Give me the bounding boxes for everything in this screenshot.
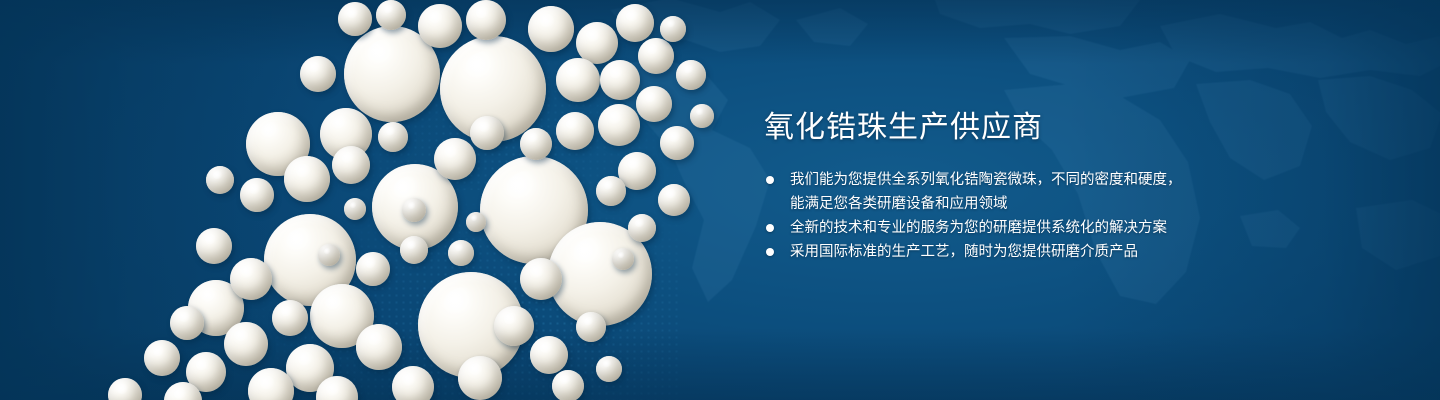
list-item: 我们能为您提供全系列氧化锆陶瓷微珠，不同的密度和硬度， 能满足您各类研磨设备和应… bbox=[764, 168, 1324, 216]
list-item-line1: 我们能为您提供全系列氧化锆陶瓷微珠，不同的密度和硬度， bbox=[790, 172, 1182, 188]
banner-copy: 氧化锆珠生产供应商 我们能为您提供全系列氧化锆陶瓷微珠，不同的密度和硬度， 能满… bbox=[764, 108, 1324, 264]
zirconia-beads-image bbox=[0, 0, 760, 400]
list-item: 全新的技术和专业的服务为您的研磨提供系统化的解决方案 bbox=[764, 216, 1324, 240]
bullet-dot-icon bbox=[766, 224, 774, 232]
page-title: 氧化锆珠生产供应商 bbox=[764, 108, 1324, 148]
list-item-line1: 采用国际标准的生产工艺，随时为您提供研磨介质产品 bbox=[790, 244, 1138, 260]
bullet-dot-icon bbox=[766, 248, 774, 256]
hero-banner: 氧化锆珠生产供应商 我们能为您提供全系列氧化锆陶瓷微珠，不同的密度和硬度， 能满… bbox=[0, 0, 1440, 400]
list-item-line1: 全新的技术和专业的服务为您的研磨提供系统化的解决方案 bbox=[790, 220, 1167, 236]
list-item-line2: 能满足您各类研磨设备和应用领域 bbox=[790, 192, 1324, 216]
bullet-dot-icon bbox=[766, 176, 774, 184]
feature-list: 我们能为您提供全系列氧化锆陶瓷微珠，不同的密度和硬度， 能满足您各类研磨设备和应… bbox=[764, 168, 1324, 264]
list-item: 采用国际标准的生产工艺，随时为您提供研磨介质产品 bbox=[764, 240, 1324, 264]
